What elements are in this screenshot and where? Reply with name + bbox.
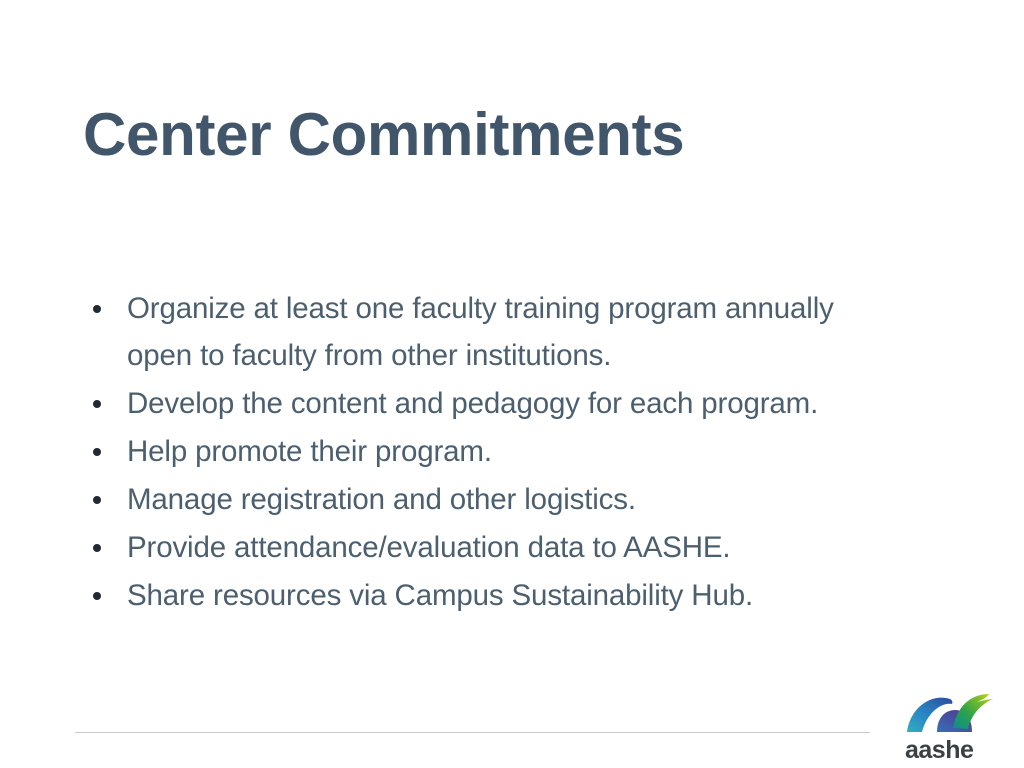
list-item: Share resources via Campus Sustainabilit… <box>88 572 968 619</box>
list-item: Organize at least one faculty training p… <box>88 285 968 379</box>
bullet-dot-icon <box>93 448 101 456</box>
aashe-logo: aashe <box>905 688 997 762</box>
slide-canvas: Center Commitments Organize at least one… <box>0 0 1024 768</box>
list-item: Develop the content and pedagogy for eac… <box>88 380 968 427</box>
list-item-text: Manage registration and other logistics. <box>127 476 968 523</box>
bullet-dot-icon <box>93 592 101 600</box>
logo-wing-shape <box>953 694 993 729</box>
bullet-dot-icon <box>93 305 101 313</box>
bullet-dot-icon <box>93 496 101 504</box>
bullet-list: Organize at least one faculty training p… <box>88 285 968 620</box>
aashe-logo-mark: aashe <box>905 688 997 762</box>
list-item-text: Develop the content and pedagogy for eac… <box>127 380 968 427</box>
bullet-dot-icon <box>93 400 101 408</box>
list-item-text: Help promote their program. <box>127 428 968 475</box>
list-item-text: Organize at least one faculty training p… <box>127 285 862 379</box>
list-item: Provide attendance/evaluation data to AA… <box>88 524 968 571</box>
logo-wordmark: aashe <box>905 736 974 762</box>
list-item-text: Provide attendance/evaluation data to AA… <box>127 524 968 571</box>
list-item-text: Share resources via Campus Sustainabilit… <box>127 572 968 619</box>
bullet-dot-icon <box>93 544 101 552</box>
page-title: Center Commitments <box>83 101 943 168</box>
list-item: Manage registration and other logistics. <box>88 476 968 523</box>
footer-divider <box>75 732 870 733</box>
list-item: Help promote their program. <box>88 428 968 475</box>
